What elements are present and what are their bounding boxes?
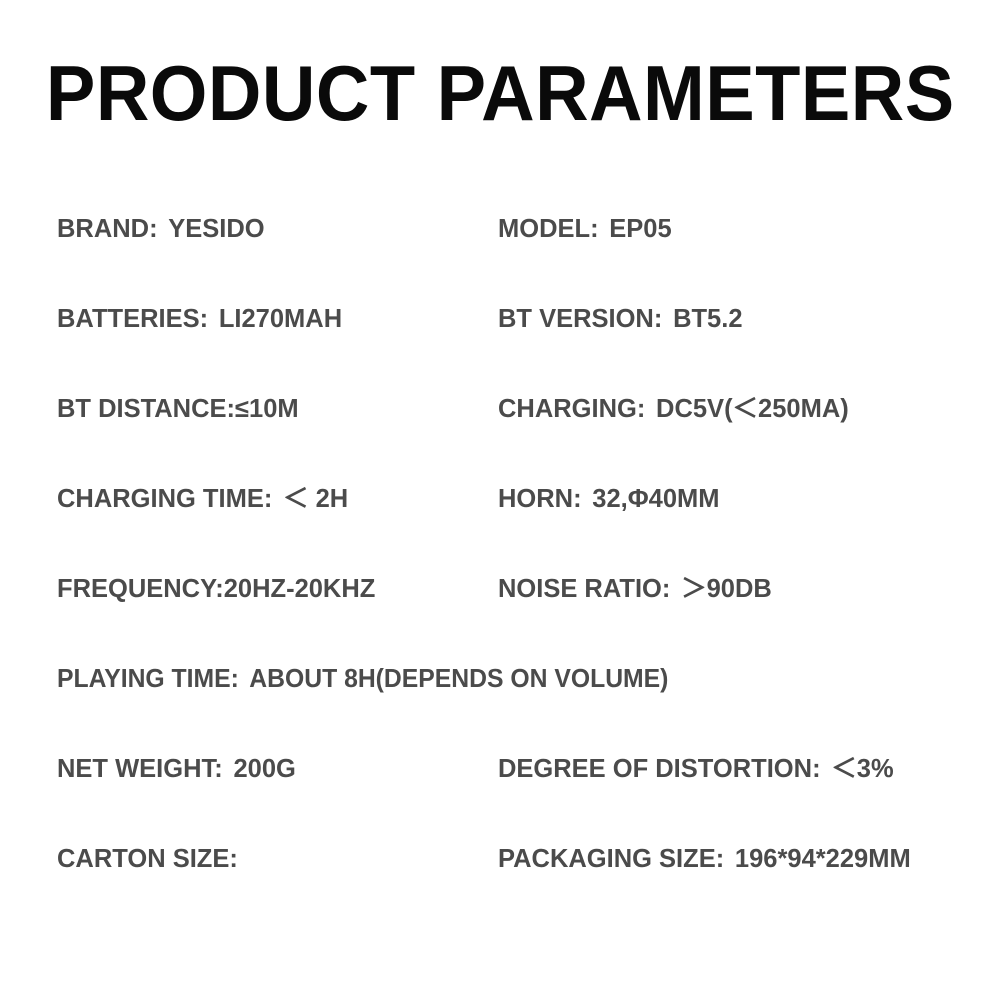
spec-separator: : — [812, 755, 821, 783]
spec-row: PLAYING TIME:ABOUT 8H(DEPENDS ON VOLUME) — [57, 662, 957, 752]
spec-row: CARTON SIZE:PACKAGING SIZE:196*94*229MM — [57, 842, 957, 932]
spec-value: ABOUT 8H(DEPENDS ON VOLUME) — [239, 665, 669, 693]
spec-label: FREQUENCY — [57, 575, 215, 603]
spec-item-charging-time: CHARGING TIME:＜ 2H — [57, 482, 348, 516]
spec-separator: : — [214, 755, 223, 783]
spec-item-degree-of-distortion: DEGREE OF DISTORTION:＜3% — [498, 752, 894, 786]
spec-value: 200G — [223, 755, 296, 783]
product-parameters-page: PRODUCT PARAMETERS BRAND:YESIDOMODEL:EP0… — [0, 0, 1000, 1000]
spec-label: CHARGING — [498, 395, 637, 423]
spec-item-brand: BRAND:YESIDO — [57, 212, 265, 246]
spec-separator: : — [229, 845, 238, 873]
spec-separator: : — [716, 845, 725, 873]
spec-item-playing-time: PLAYING TIME:ABOUT 8H(DEPENDS ON VOLUME) — [57, 662, 668, 696]
spec-label: CARTON SIZE — [57, 845, 229, 873]
spec-item-batteries: BATTERIES:LI270MAH — [57, 302, 342, 336]
spec-item-bt-distance: BT DISTANCE:≤10M — [57, 392, 299, 426]
spec-separator: : — [590, 215, 599, 243]
spec-value: 196*94*229MM — [724, 845, 911, 873]
spec-label: HORN — [498, 485, 573, 513]
spec-label: NOISE RATIO — [498, 575, 662, 603]
spec-value: YESIDO — [158, 215, 265, 243]
spec-label: PACKAGING SIZE — [498, 845, 716, 873]
spec-label: BRAND — [57, 215, 149, 243]
spec-item-bt-version: BT VERSION:BT5.2 — [498, 302, 743, 336]
specification-grid: BRAND:YESIDOMODEL:EP05BATTERIES:LI270MAH… — [57, 212, 957, 932]
spec-item-horn: HORN:32,Φ40MM — [498, 482, 720, 516]
spec-item-charging: CHARGING:DC5V(＜250MA) — [498, 392, 849, 426]
spec-value-empty — [238, 845, 249, 873]
spec-value: EP05 — [599, 215, 672, 243]
spec-value: LI270MAH — [208, 305, 342, 333]
spec-label: PLAYING TIME — [57, 665, 231, 693]
spec-value: ＞90DB — [670, 575, 771, 603]
spec-separator: : — [227, 395, 236, 423]
spec-item-model: MODEL:EP05 — [498, 212, 672, 246]
spec-value: ＜3% — [821, 755, 894, 783]
spec-row: BATTERIES:LI270MAHBT VERSION:BT5.2 — [57, 302, 957, 392]
spec-separator: : — [231, 665, 239, 693]
spec-row: BRAND:YESIDOMODEL:EP05 — [57, 212, 957, 302]
page-title-block: PRODUCT PARAMETERS — [0, 54, 1000, 132]
spec-item-frequency: FREQUENCY:20HZ-20KHZ — [57, 572, 375, 606]
spec-row: NET WEIGHT:200GDEGREE OF DISTORTION:＜3% — [57, 752, 957, 842]
spec-value: ＜ 2H — [272, 485, 348, 513]
spec-value: 20HZ-20KHZ — [224, 575, 376, 603]
spec-label: NET WEIGHT — [57, 755, 214, 783]
page-title: PRODUCT PARAMETERS — [46, 54, 955, 132]
spec-label: MODEL — [498, 215, 590, 243]
spec-row: BT DISTANCE:≤10MCHARGING:DC5V(＜250MA) — [57, 392, 957, 482]
spec-item-net-weight: NET WEIGHT:200G — [57, 752, 296, 786]
spec-label: BATTERIES — [57, 305, 200, 333]
spec-item-noise-ratio: NOISE RATIO:＞90DB — [498, 572, 772, 606]
spec-label: CHARGING TIME — [57, 485, 264, 513]
spec-item-packaging-size: PACKAGING SIZE:196*94*229MM — [498, 842, 911, 876]
spec-separator: : — [200, 305, 209, 333]
spec-separator: : — [215, 575, 224, 603]
spec-label: DEGREE OF DISTORTION — [498, 755, 812, 783]
spec-label: BT DISTANCE — [57, 395, 227, 423]
spec-row: FREQUENCY:20HZ-20KHZNOISE RATIO:＞90DB — [57, 572, 957, 662]
spec-value: ≤10M — [235, 395, 299, 423]
spec-value: 32,Φ40MM — [582, 485, 720, 513]
spec-value: DC5V(＜250MA) — [645, 395, 848, 423]
spec-separator: : — [149, 215, 158, 243]
spec-separator: : — [573, 485, 582, 513]
spec-row: CHARGING TIME:＜ 2HHORN:32,Φ40MM — [57, 482, 957, 572]
spec-item-carton-size: CARTON SIZE: — [57, 842, 249, 876]
spec-value: BT5.2 — [662, 305, 742, 333]
spec-label: BT VERSION — [498, 305, 654, 333]
